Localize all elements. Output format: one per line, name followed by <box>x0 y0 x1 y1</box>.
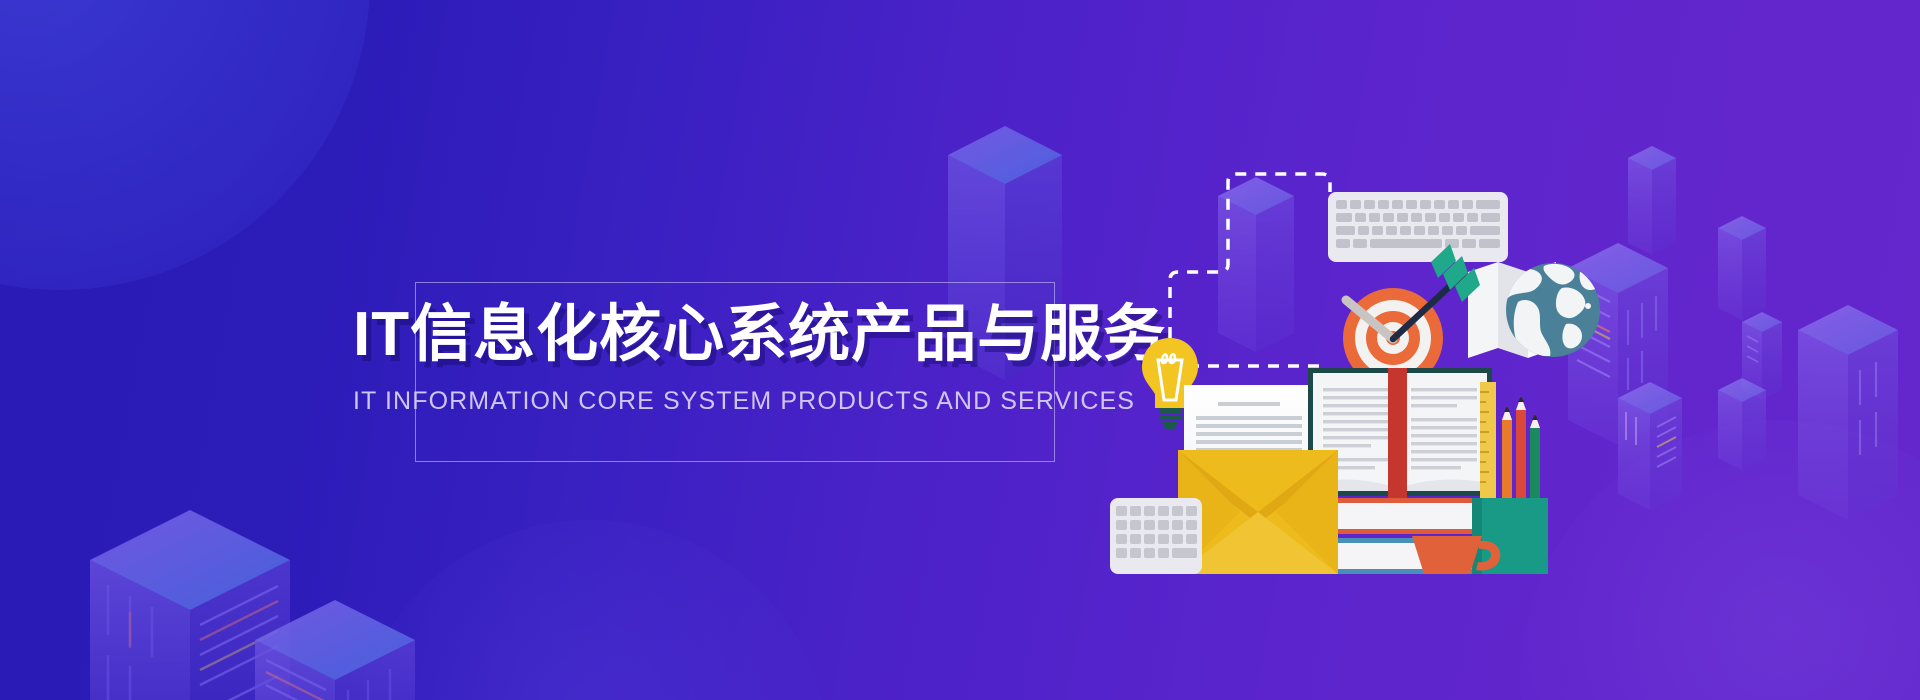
hero-banner: IT信息化核心系统产品与服务 IT INFORMATION CORE SYSTE… <box>0 0 1920 700</box>
building-right-g <box>1628 146 1676 255</box>
illustration-svg <box>1110 120 1630 580</box>
dashed-connector-icon <box>1170 174 1330 366</box>
headline-block: IT信息化核心系统产品与服务 IT INFORMATION CORE SYSTE… <box>415 282 1055 462</box>
building-right-f <box>1798 305 1898 520</box>
page-subtitle: IT INFORMATION CORE SYSTEM PRODUCTS AND … <box>353 387 1113 416</box>
page-title: IT信息化核心系统产品与服务 <box>353 304 1113 366</box>
keyboard-bottom-icon <box>1110 498 1202 574</box>
keyboard-top-icon <box>1328 192 1508 262</box>
hero-illustration <box>1110 120 1630 580</box>
building-right-c <box>1718 216 1766 320</box>
building-right-e <box>1718 378 1766 470</box>
target-dartboard-icon <box>1343 244 1480 388</box>
